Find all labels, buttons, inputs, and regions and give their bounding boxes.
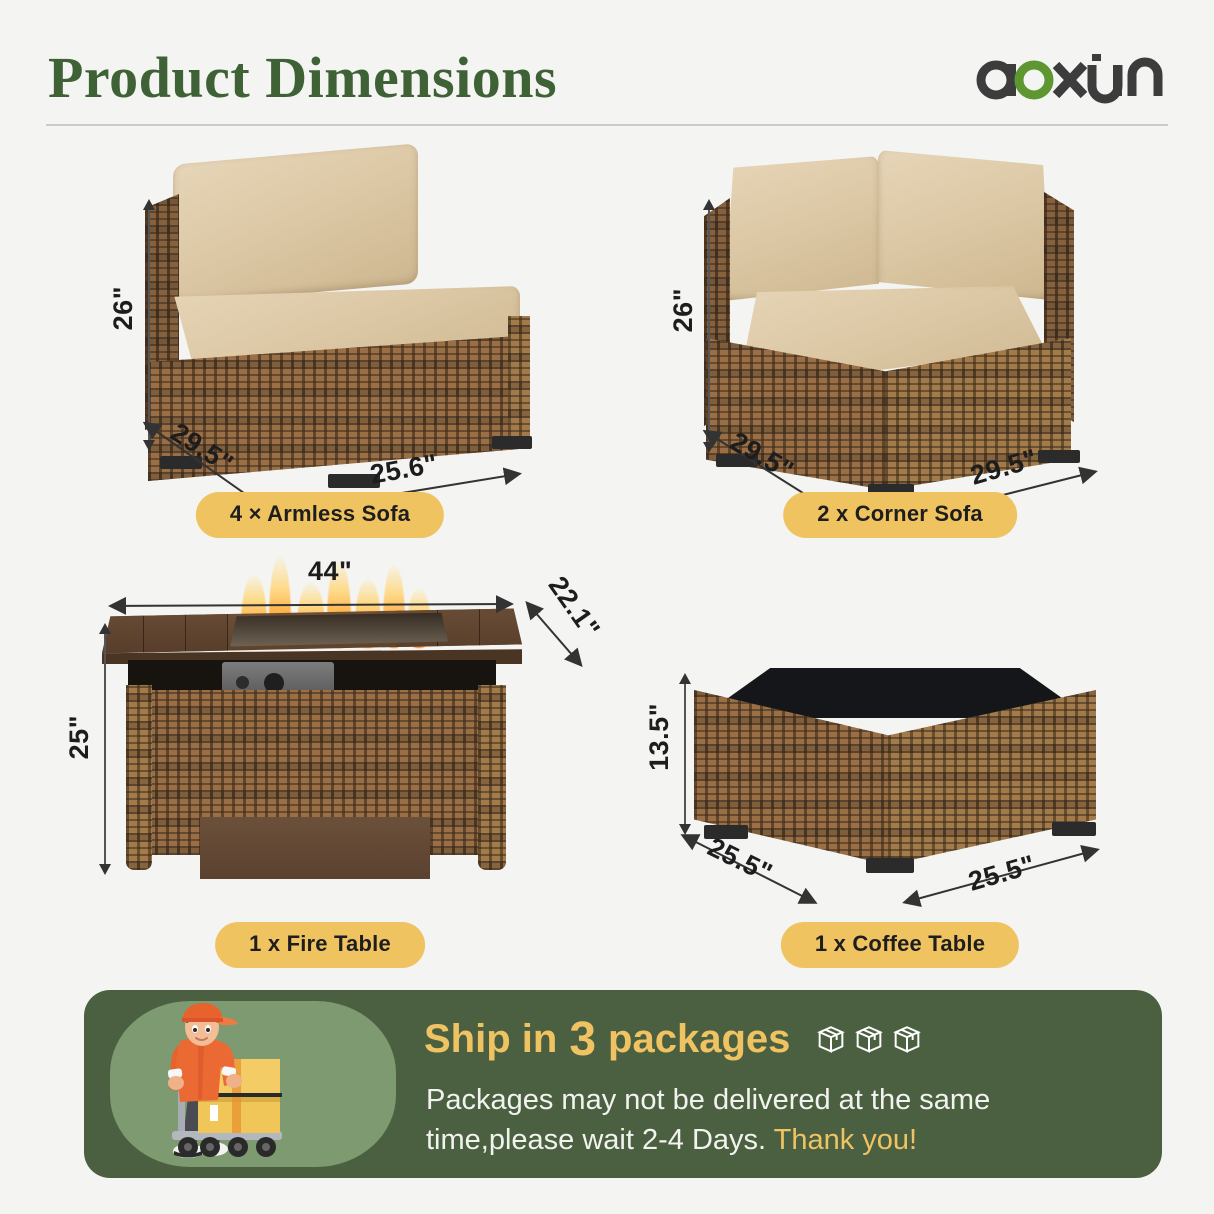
height-arrow-head-top xyxy=(99,623,111,634)
foot-right xyxy=(1052,822,1096,836)
shipping-note: Packages may not be delivered at the sam… xyxy=(426,1080,1126,1160)
back-cushion xyxy=(173,143,418,304)
height-arrow-head-top xyxy=(703,199,715,210)
package-box-icon xyxy=(814,1023,848,1057)
height-arrow-line xyxy=(104,632,106,870)
depth-arrow xyxy=(678,830,878,930)
leg-left xyxy=(126,685,152,870)
product-coffee-table: 13.5" 25.5" 25.5" 1 x Coffee Table xyxy=(620,540,1180,970)
height-arrow-head-bottom xyxy=(99,864,111,875)
height-arrow-line xyxy=(148,208,150,446)
dimension-height: 26" xyxy=(668,288,699,332)
ship-heading-pre: Ship in xyxy=(424,1017,557,1062)
back-cushion-left xyxy=(724,156,879,301)
height-arrow-head-top xyxy=(143,199,155,210)
height-arrow-line xyxy=(708,208,710,448)
header: Product Dimensions xyxy=(0,0,1214,132)
product-dimensions-infographic: Product Dimensions xyxy=(0,0,1214,1214)
brand-logo xyxy=(972,48,1172,104)
foot-back-right xyxy=(492,436,532,449)
product-armless-sofa: 26" 29.5" 25.6" 4 × Armless Sofa xyxy=(40,136,600,536)
shipping-banner: Ship in 3 packages Packages may not be d… xyxy=(84,990,1162,1178)
badge-corner-sofa[interactable]: 2 x Corner Sofa xyxy=(783,492,1017,538)
ship-heading: Ship in 3 packages xyxy=(424,1012,924,1067)
product-fire-table: 44" 22.1" 25" 1 x Fire Table xyxy=(40,540,600,970)
ship-heading-post: packages xyxy=(608,1017,790,1062)
leg-right xyxy=(478,685,506,870)
base-right-panel xyxy=(508,316,530,446)
dimension-length: 44" xyxy=(308,556,352,587)
shipping-note-line2: time,please wait 2-4 Days. xyxy=(426,1124,766,1156)
package-icons xyxy=(814,1023,924,1057)
package-box-icon xyxy=(890,1023,924,1057)
dimension-height: 25" xyxy=(64,715,95,759)
badge-armless-sofa[interactable]: 4 × Armless Sofa xyxy=(196,492,444,538)
length-arrow xyxy=(104,592,524,614)
page-title: Product Dimensions xyxy=(48,44,557,111)
badge-coffee-table[interactable]: 1 x Coffee Table xyxy=(781,922,1019,968)
ship-package-count: 3 xyxy=(569,1012,596,1067)
dimension-height: 13.5" xyxy=(644,703,675,771)
product-corner-sofa: 26" 29.5" 29.5" 2 x Corner Sofa xyxy=(620,136,1180,536)
height-arrow-line xyxy=(684,682,686,830)
badge-fire-table[interactable]: 1 x Fire Table xyxy=(215,922,425,968)
height-arrow-head-top xyxy=(679,673,691,684)
tank-door xyxy=(200,817,430,879)
package-box-icon xyxy=(852,1023,886,1057)
dimension-height: 26" xyxy=(108,286,139,330)
foot-right xyxy=(1038,450,1080,463)
header-divider xyxy=(46,124,1168,126)
shipping-note-line1: Packages may not be delivered at the sam… xyxy=(426,1084,990,1116)
back-cushion-right xyxy=(878,150,1050,300)
delivery-illustration xyxy=(110,1001,396,1167)
shipping-note-thanks: Thank you! xyxy=(774,1124,917,1156)
control-small-knob xyxy=(236,676,249,689)
